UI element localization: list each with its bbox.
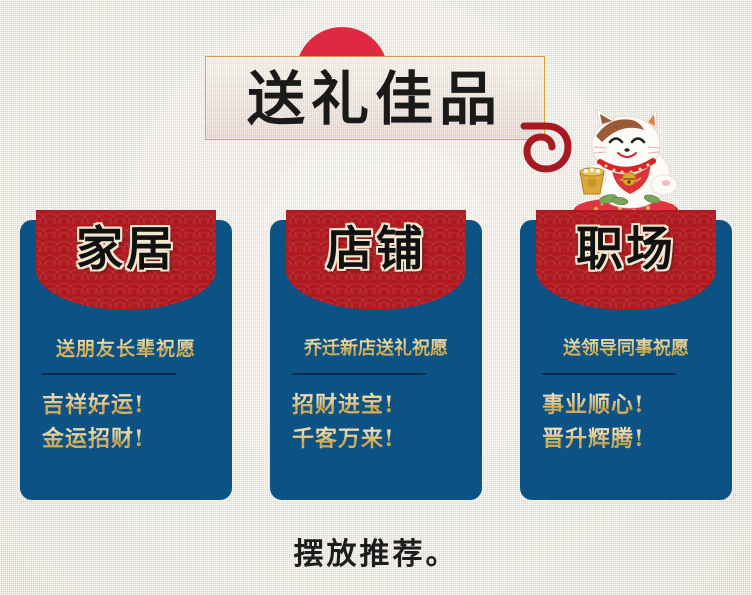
wish-line: 千客万来! bbox=[292, 422, 472, 456]
card-badge-label: 职场 bbox=[536, 218, 716, 282]
card-divider bbox=[542, 373, 676, 375]
card-subtitle: 送朋友长辈祝愿 bbox=[20, 336, 232, 362]
category-card[interactable]: 职场 送领导同事祝愿 事业顺心! 晋升辉腾! bbox=[520, 210, 732, 500]
wish-line: 招财进宝! bbox=[292, 388, 472, 422]
wish-line: 金运招财! bbox=[42, 422, 222, 456]
wish-line: 吉祥好运! bbox=[42, 388, 222, 422]
wish-line: 晋升辉腾! bbox=[542, 422, 722, 456]
card-divider bbox=[292, 373, 426, 375]
card-header-badge: 家居 bbox=[36, 210, 216, 310]
maneki-neko-figurine-icon bbox=[560, 100, 690, 222]
category-card[interactable]: 店铺 乔迁新店送礼祝愿 招财进宝! 千客万来! bbox=[270, 210, 482, 500]
card-wish-list: 吉祥好运! 金运招财! bbox=[42, 388, 222, 456]
card-header-badge: 店铺 bbox=[286, 210, 466, 310]
category-cards-row: 家居 送朋友长辈祝愿 吉祥好运! 金运招财! 店铺 乔迁新店送礼祝愿 招财进宝!… bbox=[0, 210, 752, 500]
wish-line: 事业顺心! bbox=[542, 388, 722, 422]
card-badge-label: 店铺 bbox=[286, 218, 466, 282]
title-banner: 送礼佳品 bbox=[205, 56, 545, 140]
card-wish-list: 招财进宝! 千客万来! bbox=[292, 388, 472, 456]
card-divider bbox=[42, 373, 176, 375]
promo-poster: 送礼佳品 bbox=[0, 0, 752, 595]
card-subtitle: 送领导同事祝愿 bbox=[520, 336, 732, 362]
card-subtitle: 乔迁新店送礼祝愿 bbox=[270, 336, 482, 362]
category-card[interactable]: 家居 送朋友长辈祝愿 吉祥好运! 金运招财! bbox=[20, 210, 232, 500]
card-header-badge: 职场 bbox=[536, 210, 716, 310]
footer-note: 摆放推荐。 bbox=[0, 535, 752, 575]
page-title: 送礼佳品 bbox=[206, 57, 544, 141]
card-wish-list: 事业顺心! 晋升辉腾! bbox=[542, 388, 722, 456]
card-badge-label: 家居 bbox=[36, 218, 216, 282]
